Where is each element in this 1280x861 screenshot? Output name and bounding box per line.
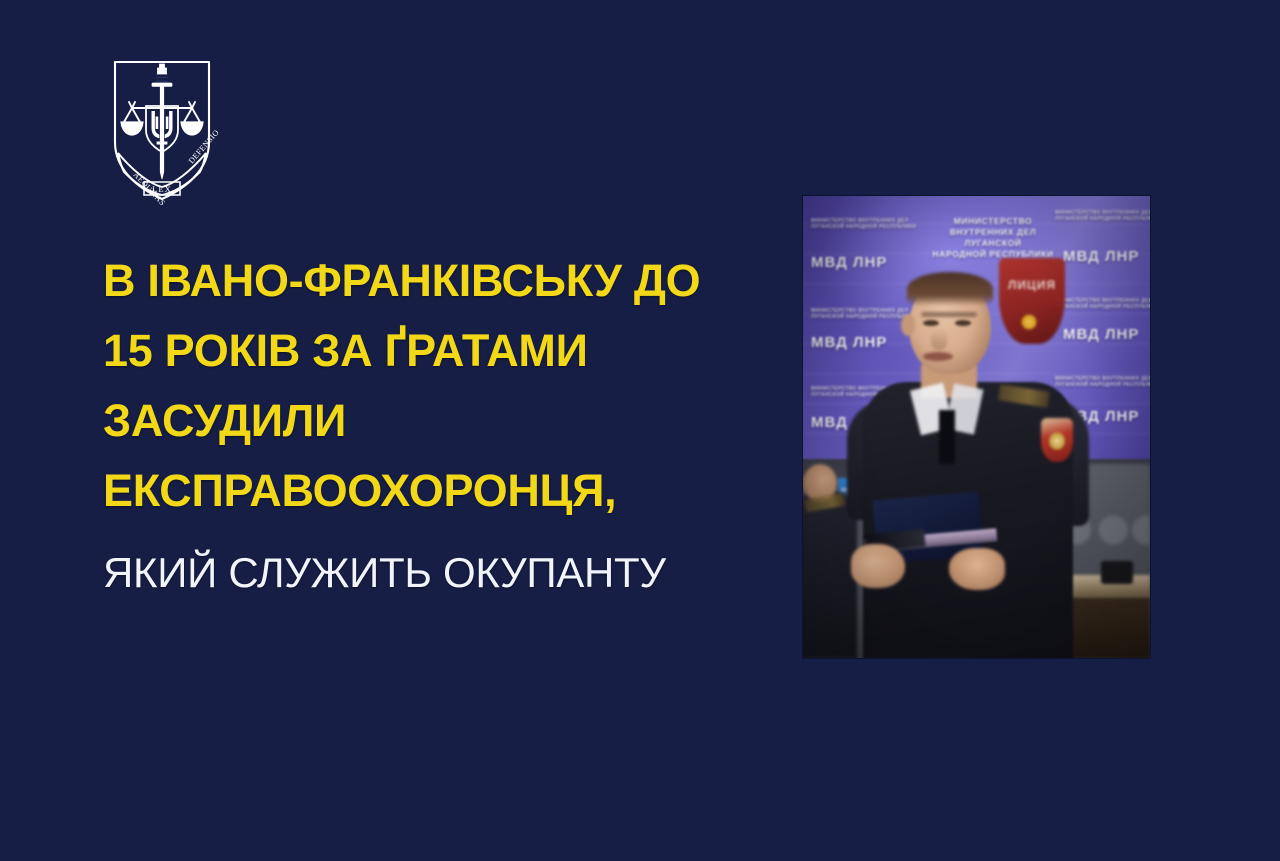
- news-photo: МИНИСТЕРСТВО ВНУТРЕННИХ ДЕЛ ЛУГАНСКОЙ НА…: [803, 196, 1150, 658]
- backdrop-label-mvd-lnr: МВД ЛНР: [1063, 326, 1139, 343]
- headline-line-5: ЯКИЙ СЛУЖИТЬ ОКУПАНТУ: [103, 538, 723, 608]
- backdrop-small-label: МИНИСТЕРСТВО ВНУТРЕННИХ ДЕЛ ЛУГАНСКОЙ НА…: [811, 308, 897, 320]
- wall-seal-star: [1021, 314, 1037, 330]
- officer-eye-left: [923, 320, 939, 326]
- motto-center: LEX: [152, 184, 172, 194]
- backdrop-small-label: МИНИСТЕРСТВО ВНУТРЕННИХ ДЕЛ ЛУГАНСКОЙ НА…: [1055, 210, 1141, 222]
- officer-brow: [921, 312, 977, 317]
- backdrop-label-mvd-lnr: МВД ЛНР: [811, 334, 887, 351]
- backdrop-label-mvd-lnr: МВД ЛНР: [811, 254, 887, 271]
- wall-seal-text: ЛИЦИЯ: [1001, 278, 1063, 292]
- officer-nose: [931, 328, 947, 350]
- headline-line-1: В ІВАНО-ФРАНКІВСЬКУ ДО: [103, 246, 723, 316]
- headline-block: В ІВАНО-ФРАНКІВСЬКУ ДО 15 РОКІВ ЗА ҐРАТА…: [103, 246, 723, 608]
- backdrop-small-label: МИНИСТЕРСТВО ВНУТРЕННИХ ДЕЛ ЛУГАНСКОЙ НА…: [811, 218, 897, 230]
- officer-hand-right: [949, 548, 1005, 590]
- headline-line-2: 15 РОКІВ ЗА ҐРАТАМИ: [103, 316, 723, 386]
- officer-hair: [907, 272, 993, 306]
- news-poster: AEQUITAS DEFENSIO LEX В ІВАНО-ФРАНКІВСЬК…: [0, 0, 1280, 861]
- headline-line-3: ЗАСУДИЛИ: [103, 386, 723, 456]
- prosecutor-general-emblem: AEQUITAS DEFENSIO LEX: [106, 56, 218, 206]
- wall-seal-shield: [999, 258, 1065, 344]
- officer-ear: [901, 314, 915, 336]
- backdrop-ministry-block: МИНИСТЕРСТВО ВНУТРЕННИХ ДЕЛ ЛУГАНСКОЙ НА…: [923, 216, 1063, 260]
- backdrop-small-label: МИНИСТЕРСТВО ВНУТРЕННИХ ДЕЛ ЛУГАНСКОЙ НА…: [1055, 298, 1141, 310]
- backdrop-small-label: МИНИСТЕРСТВО ВНУТРЕННИХ ДЕЛ ЛУГАНСКОЙ НА…: [1055, 376, 1141, 388]
- officer-eye-right: [955, 320, 971, 326]
- backdrop-label-mvd-lnr: МВД ЛНР: [1063, 248, 1139, 265]
- officer-hand-left: [851, 544, 905, 588]
- headline-line-4: ЕКСПРАВООХОРОНЦЯ,: [103, 456, 723, 526]
- sword: [152, 64, 172, 179]
- officer-tie: [939, 410, 955, 464]
- desk-microphone: [1101, 561, 1132, 584]
- officer-mouth: [923, 352, 953, 361]
- officer-sleeve-patch-emblem: [1049, 432, 1065, 450]
